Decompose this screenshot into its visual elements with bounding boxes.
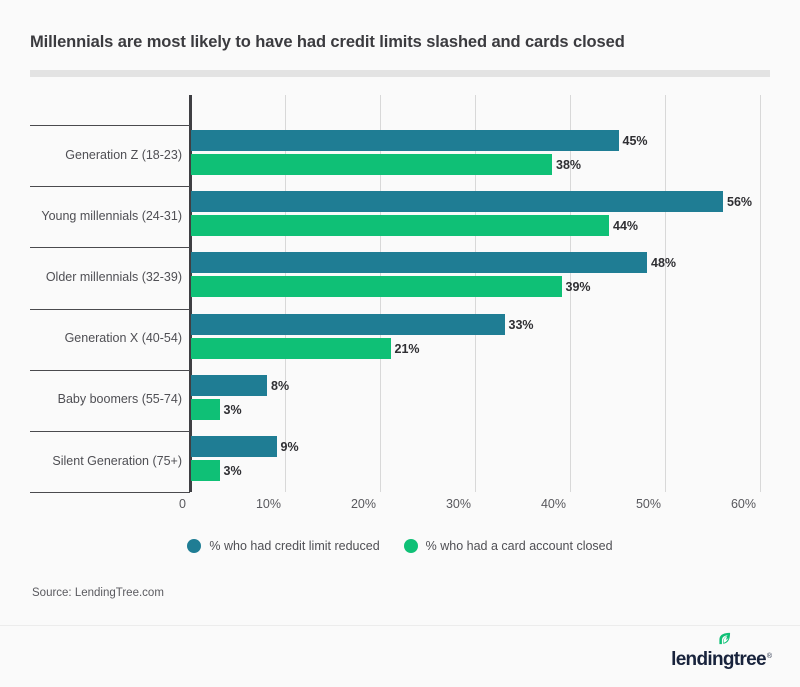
x-axis-tick-label: 0 xyxy=(112,497,186,511)
gridline xyxy=(760,95,761,492)
row-separator xyxy=(30,431,190,432)
bar-reduced[interactable] xyxy=(191,252,647,273)
x-axis-tick-label: 40% xyxy=(492,497,566,511)
infographic-canvas: Millennials are most likely to have had … xyxy=(0,0,800,687)
row-separator xyxy=(30,492,190,493)
bar-reduced[interactable] xyxy=(191,130,619,151)
bar-value-label: 56% xyxy=(727,195,752,209)
bar-chart: 010%20%30%40%50%60%Generation Z (18-23)4… xyxy=(0,0,800,687)
x-axis-tick-label: 30% xyxy=(397,497,471,511)
category-label: Generation X (40-54) xyxy=(30,331,182,345)
x-axis-tick-label: 60% xyxy=(682,497,756,511)
row-separator xyxy=(30,125,190,126)
row-separator xyxy=(30,370,190,371)
bar-closed[interactable] xyxy=(191,215,609,236)
bar-value-label: 9% xyxy=(281,440,299,454)
bar-reduced[interactable] xyxy=(191,436,277,457)
bar-closed[interactable] xyxy=(191,276,562,297)
bar-closed[interactable] xyxy=(191,154,552,175)
row-separator xyxy=(30,247,190,248)
bar-value-label: 3% xyxy=(224,464,242,478)
legend-label: % who had a card account closed xyxy=(426,539,613,553)
row-separator xyxy=(30,309,190,310)
category-label: Young millennials (24-31) xyxy=(30,209,182,223)
bar-closed[interactable] xyxy=(191,399,220,420)
bar-value-label: 21% xyxy=(395,342,420,356)
bar-reduced[interactable] xyxy=(191,191,723,212)
legend-marker-icon xyxy=(187,539,201,553)
x-axis-tick-label: 50% xyxy=(587,497,661,511)
bar-value-label: 44% xyxy=(613,219,638,233)
logo-trademark: ® xyxy=(767,653,772,660)
bar-closed[interactable] xyxy=(191,460,220,481)
bar-value-label: 45% xyxy=(623,134,648,148)
source-note: Source: LendingTree.com xyxy=(32,587,164,599)
category-label: Generation Z (18-23) xyxy=(30,148,182,162)
x-axis-tick-label: 10% xyxy=(207,497,281,511)
leaf-icon xyxy=(718,632,731,645)
legend-label: % who had credit limit reduced xyxy=(209,539,379,553)
bar-value-label: 8% xyxy=(271,379,289,393)
gridline xyxy=(665,95,666,492)
bar-closed[interactable] xyxy=(191,338,391,359)
bar-value-label: 3% xyxy=(224,403,242,417)
category-label: Older millennials (32-39) xyxy=(30,270,182,284)
legend-item[interactable]: % who had credit limit reduced xyxy=(187,539,379,553)
category-label: Baby boomers (55-74) xyxy=(30,392,182,406)
legend-item[interactable]: % who had a card account closed xyxy=(404,539,613,553)
footer-divider xyxy=(0,625,800,626)
bar-value-label: 38% xyxy=(556,158,581,172)
row-separator xyxy=(30,186,190,187)
logo-wordmark-text: lendingtree xyxy=(671,650,766,669)
bar-value-label: 33% xyxy=(509,318,534,332)
bar-value-label: 39% xyxy=(566,280,591,294)
x-axis-tick-label: 20% xyxy=(302,497,376,511)
lendingtree-logo: lendingtree ® xyxy=(671,643,772,669)
legend-marker-icon xyxy=(404,539,418,553)
bar-reduced[interactable] xyxy=(191,375,267,396)
chart-legend: % who had credit limit reduced% who had … xyxy=(0,539,800,553)
bar-value-label: 48% xyxy=(651,256,676,270)
bar-reduced[interactable] xyxy=(191,314,505,335)
category-label: Silent Generation (75+) xyxy=(30,454,182,468)
